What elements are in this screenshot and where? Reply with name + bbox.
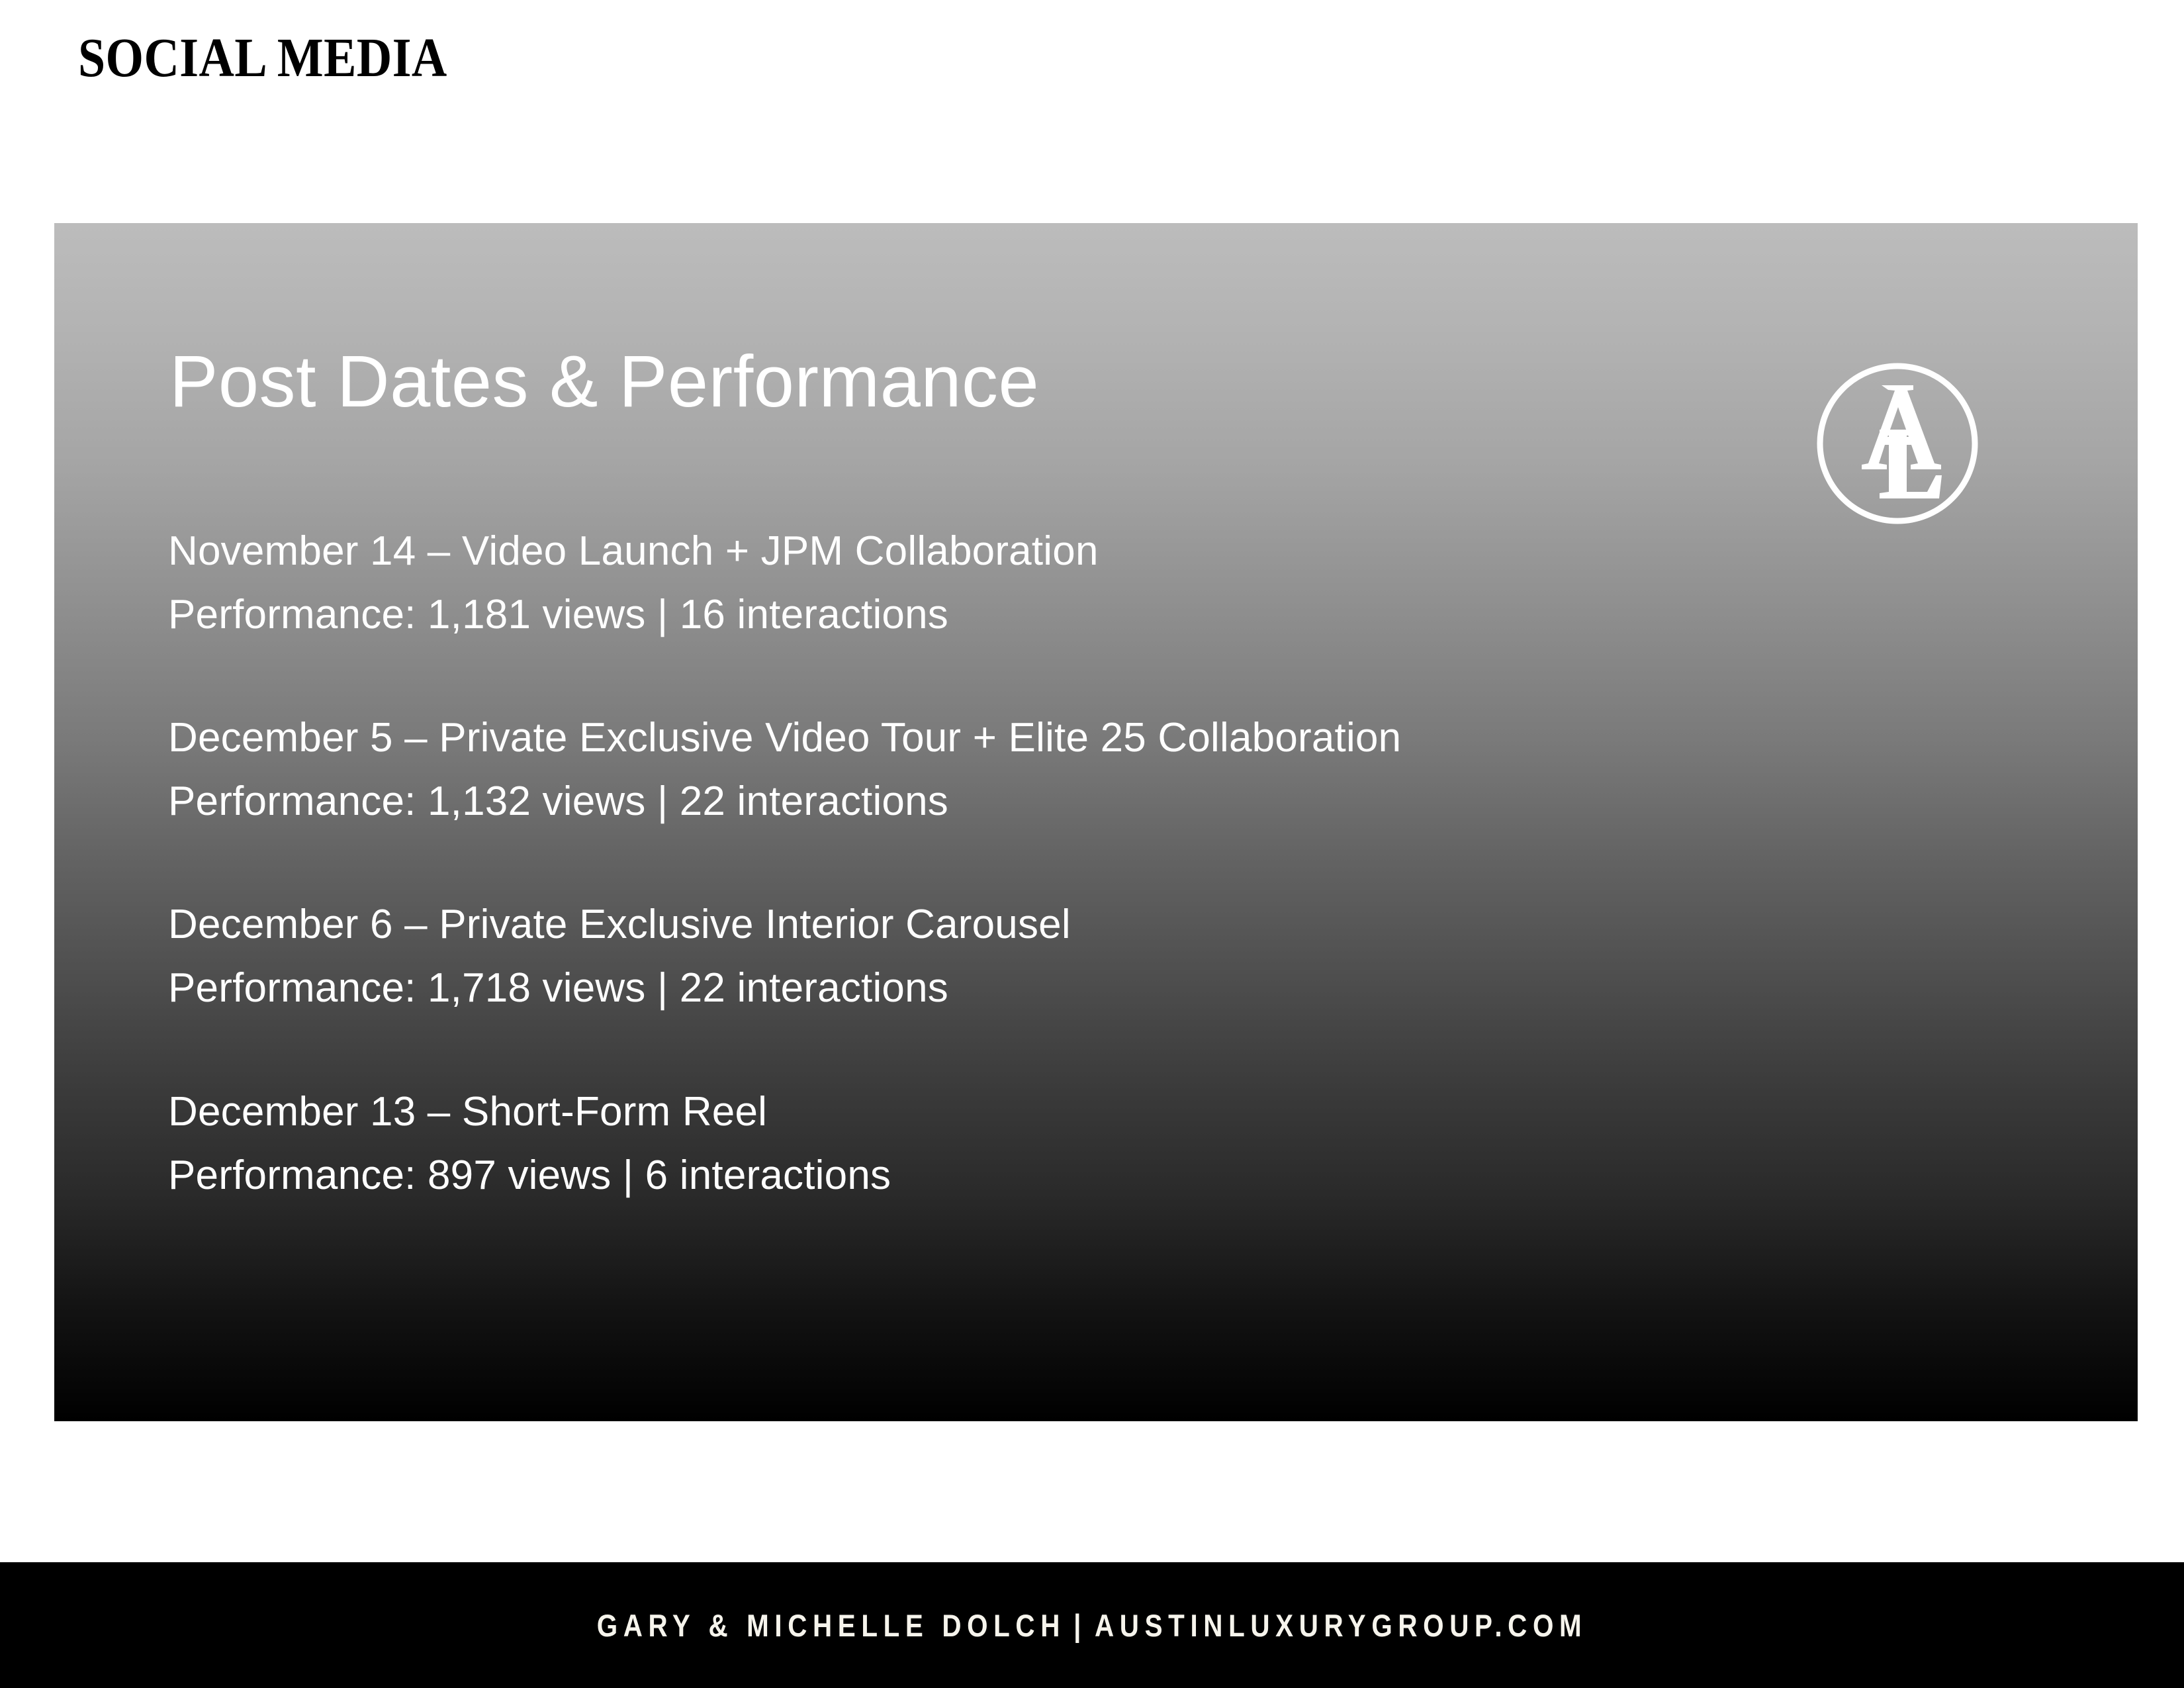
post-performance-line: Performance: 1,132 views | 22 interactio…: [168, 770, 1790, 833]
post-performance-line: Performance: 1,718 views | 22 interactio…: [168, 957, 1790, 1020]
footer-contact: GARY & MICHELLE DOLCH | AUSTINLUXURYGROU…: [153, 1562, 2031, 1688]
page-title: SOCIAL MEDIA: [78, 30, 447, 86]
content-panel: Post Dates & Performance November 14 – V…: [54, 223, 2138, 1421]
post-entry: December 13 – Short-Form Reel Performanc…: [168, 1080, 1790, 1207]
post-date-line: December 5 – Private Exclusive Video Tou…: [168, 706, 1790, 770]
footer-agents: GARY & MICHELLE DOLCH: [597, 1607, 1066, 1644]
post-performance-line: Performance: 897 views | 6 interactions: [168, 1144, 1790, 1207]
post-entry: December 6 – Private Exclusive Interior …: [168, 893, 1790, 1020]
post-performance-line: Performance: 1,181 views | 16 interactio…: [168, 583, 1790, 647]
post-entry: November 14 – Video Launch + JPM Collabo…: [168, 520, 1790, 647]
panel-heading: Post Dates & Performance: [169, 346, 1039, 418]
post-date-line: December 6 – Private Exclusive Interior …: [168, 893, 1790, 957]
al-monogram-logo: [1815, 361, 1980, 526]
footer-separator: |: [1066, 1607, 1095, 1644]
post-date-line: November 14 – Video Launch + JPM Collabo…: [168, 520, 1790, 583]
post-date-line: December 13 – Short-Form Reel: [168, 1080, 1790, 1144]
footer-website[interactable]: AUSTINLUXURYGROUP.COM: [1095, 1607, 1587, 1644]
post-entry: December 5 – Private Exclusive Video Tou…: [168, 706, 1790, 833]
post-list: November 14 – Video Launch + JPM Collabo…: [168, 520, 1790, 1207]
footer-bar: GARY & MICHELLE DOLCH | AUSTINLUXURYGROU…: [0, 1562, 2184, 1688]
